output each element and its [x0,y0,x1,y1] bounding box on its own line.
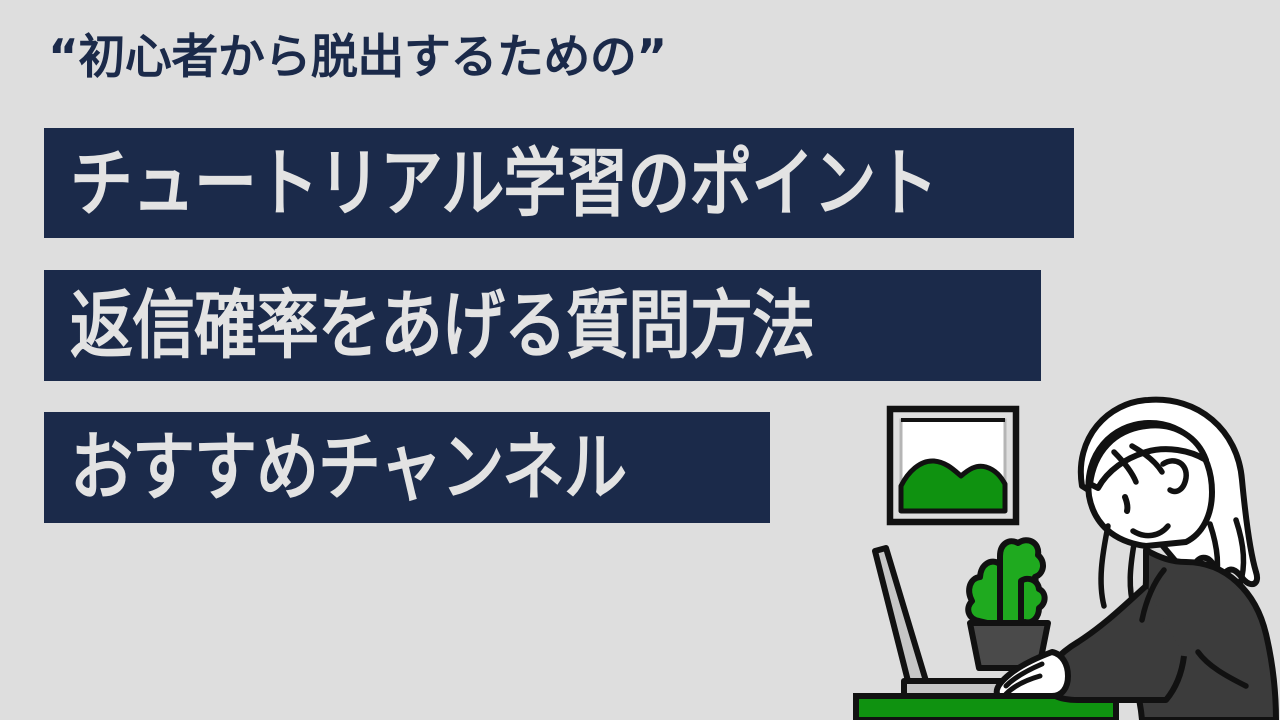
banner-bar-3: おすすめチャンネル [44,412,770,523]
banner-bar-2-label: 返信確率をあげる質問方法 [70,288,814,362]
banner-bar-3-label: おすすめチャンネル [70,430,626,504]
banner-bar-1-label: チュートリアル学習のポイント [70,146,937,220]
page-title: “初心者から脱出するための” [48,34,667,81]
potted-plant [968,540,1048,668]
banner-bar-1: チュートリアル学習のポイント [44,128,1074,238]
banner-bar-2: 返信確率をあげる質問方法 [44,270,1041,381]
framed-landscape-picture [890,409,1016,522]
slide-canvas: “初心者から脱出するための” チュートリアル学習のポイント 返信確率をあげる質問… [0,0,1280,720]
illustration-woman-at-laptop [846,376,1280,720]
